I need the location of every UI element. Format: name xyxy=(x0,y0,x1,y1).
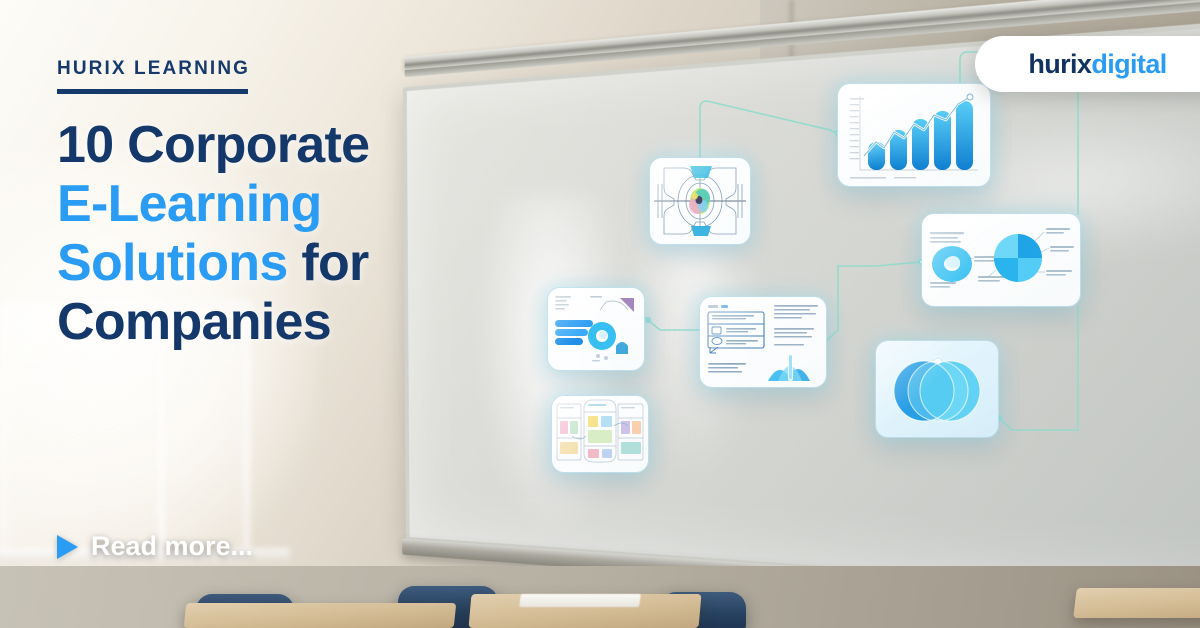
bar-chart-icon xyxy=(838,84,990,186)
eyebrow-label: HURIX LEARNING xyxy=(57,58,250,80)
pie-infographic-card[interactable] xyxy=(922,214,1080,306)
wireframe-icon xyxy=(552,396,648,472)
whiteboard-glare-a xyxy=(475,192,633,548)
venn-diagram-card[interactable] xyxy=(876,341,998,437)
desk xyxy=(1073,588,1200,618)
technical-diagram-icon xyxy=(650,158,750,244)
wireframe-sketch-card[interactable] xyxy=(552,396,648,472)
document-form-card[interactable] xyxy=(700,297,826,387)
read-more-label: Read more... xyxy=(91,531,253,562)
headline-line-2: E-Learning xyxy=(57,175,322,233)
eyebrow-underline xyxy=(57,89,248,94)
logo-text-digital: digital xyxy=(1091,49,1166,79)
dashboard-icon xyxy=(548,288,644,370)
logo-text-hurix: hurix xyxy=(1028,49,1091,79)
bar-chart-card[interactable] xyxy=(838,84,990,186)
play-triangle-icon xyxy=(57,535,78,559)
venn-diagram-icon xyxy=(876,341,998,437)
headline-line-3-tail: for xyxy=(288,234,369,292)
paper-on-desk xyxy=(519,594,641,607)
brand-logo[interactable]: hurixdigital xyxy=(975,36,1200,92)
headline-line-3: Solutions xyxy=(57,234,288,292)
logo-text: hurixdigital xyxy=(1028,49,1166,80)
headline-line-4: Companies xyxy=(57,293,331,351)
banner-canvas: HURIX LEARNING 10 CorporateE-LearningSol… xyxy=(0,0,1200,628)
dashboard-card[interactable] xyxy=(548,288,644,370)
headline-line-1: 10 Corporate xyxy=(57,116,369,174)
pie-chart-icon xyxy=(922,214,1080,306)
read-more-button[interactable]: Read more... xyxy=(57,531,253,562)
desk xyxy=(184,603,457,628)
page-title: 10 CorporateE-LearningSolutions forCompa… xyxy=(57,116,487,352)
document-icon xyxy=(700,297,826,387)
lens-diagram-card[interactable] xyxy=(650,158,750,244)
